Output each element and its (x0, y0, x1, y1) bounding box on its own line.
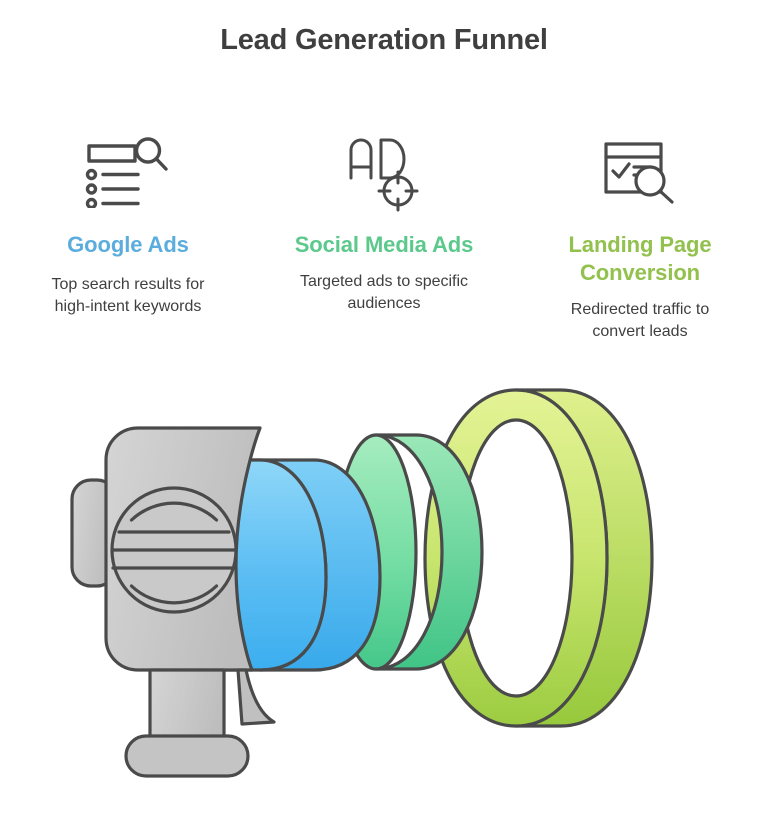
infographic-page: Lead Generation Funnel (0, 0, 768, 825)
column-description: Redirected traffic to convert leads (545, 299, 735, 343)
column-description: Targeted ads to specific audiences (289, 271, 479, 315)
speaker-grille (112, 488, 236, 612)
column-google-ads: Google Ads Top search results for high-i… (0, 136, 256, 318)
column-social-media-ads: Social Media Ads Targeted ads to specifi… (256, 136, 512, 315)
page-title: Lead Generation Funnel (0, 24, 768, 57)
ad-target-icon (343, 136, 425, 214)
megaphone-base (126, 736, 248, 776)
column-heading: Landing Page Conversion (540, 231, 740, 287)
column-description: Top search results for high-intent keywo… (33, 274, 223, 318)
landing-page-check-search-icon (601, 136, 679, 214)
megaphone-with-funnel-ribbons (0, 380, 768, 790)
search-results-list-icon (85, 136, 171, 214)
feature-columns: Google Ads Top search results for high-i… (0, 136, 768, 343)
column-heading: Social Media Ads (295, 231, 474, 259)
column-heading: Google Ads (67, 231, 189, 259)
megaphone-trigger (238, 670, 274, 724)
column-landing-page-conversion: Landing Page Conversion Redirected traff… (512, 136, 768, 343)
